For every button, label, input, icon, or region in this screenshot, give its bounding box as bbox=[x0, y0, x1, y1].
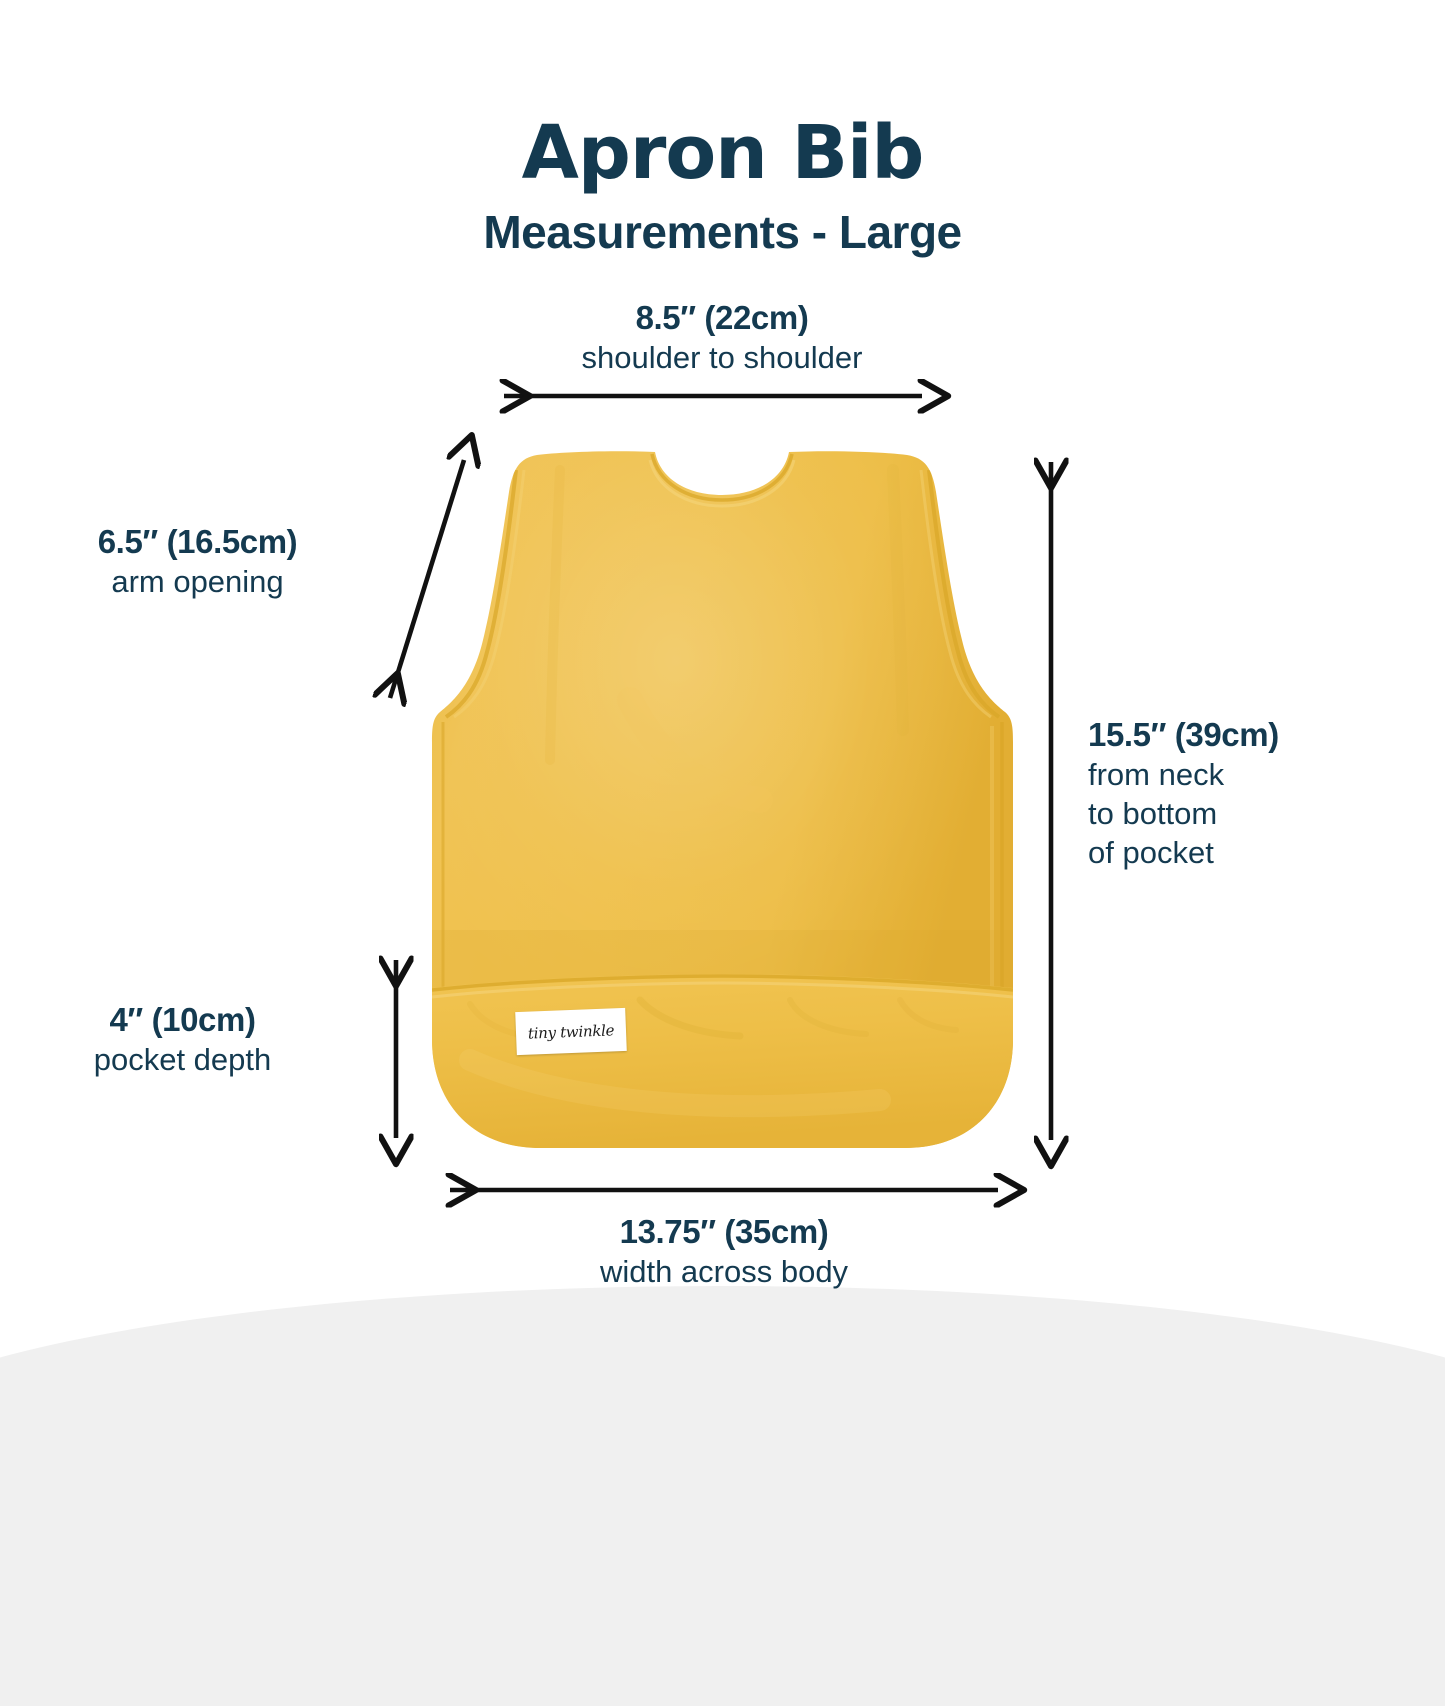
page-subtitle: Measurements - Large bbox=[0, 205, 1445, 259]
measurement-neck-to-pocket: 15.5″ (39cm) from neck to bottom of pock… bbox=[1088, 715, 1428, 872]
arrow-arm-opening bbox=[390, 460, 464, 698]
measurement-value: 4″ (10cm) bbox=[0, 1000, 365, 1040]
measurement-description-line-1: from neck bbox=[1088, 755, 1428, 794]
measurement-description: pocket depth bbox=[0, 1040, 365, 1079]
measurement-value: 6.5″ (16.5cm) bbox=[0, 522, 395, 562]
measurement-pocket-depth: 4″ (10cm) pocket depth bbox=[0, 1000, 365, 1079]
measurement-value: 15.5″ (39cm) bbox=[1088, 715, 1428, 755]
measurement-description: arm opening bbox=[0, 562, 395, 601]
measurement-value: 8.5″ (22cm) bbox=[322, 298, 1122, 338]
diagram-canvas: Apron Bib Measurements - Large bbox=[0, 0, 1445, 1445]
measurement-shoulder-to-shoulder: 8.5″ (22cm) shoulder to shoulder bbox=[322, 298, 1122, 377]
measurement-description: shoulder to shoulder bbox=[322, 338, 1122, 377]
measurement-value: 13.75″ (35cm) bbox=[424, 1212, 1024, 1252]
measurement-arm-opening: 6.5″ (16.5cm) arm opening bbox=[0, 522, 395, 601]
measurement-width-across-body: 13.75″ (35cm) width across body bbox=[424, 1212, 1024, 1291]
measurement-description-line-3: of pocket bbox=[1088, 833, 1428, 872]
page-title: Apron Bib bbox=[0, 110, 1445, 196]
measurement-description-line-2: to bottom bbox=[1088, 794, 1428, 833]
measurement-description: width across body bbox=[424, 1252, 1024, 1291]
